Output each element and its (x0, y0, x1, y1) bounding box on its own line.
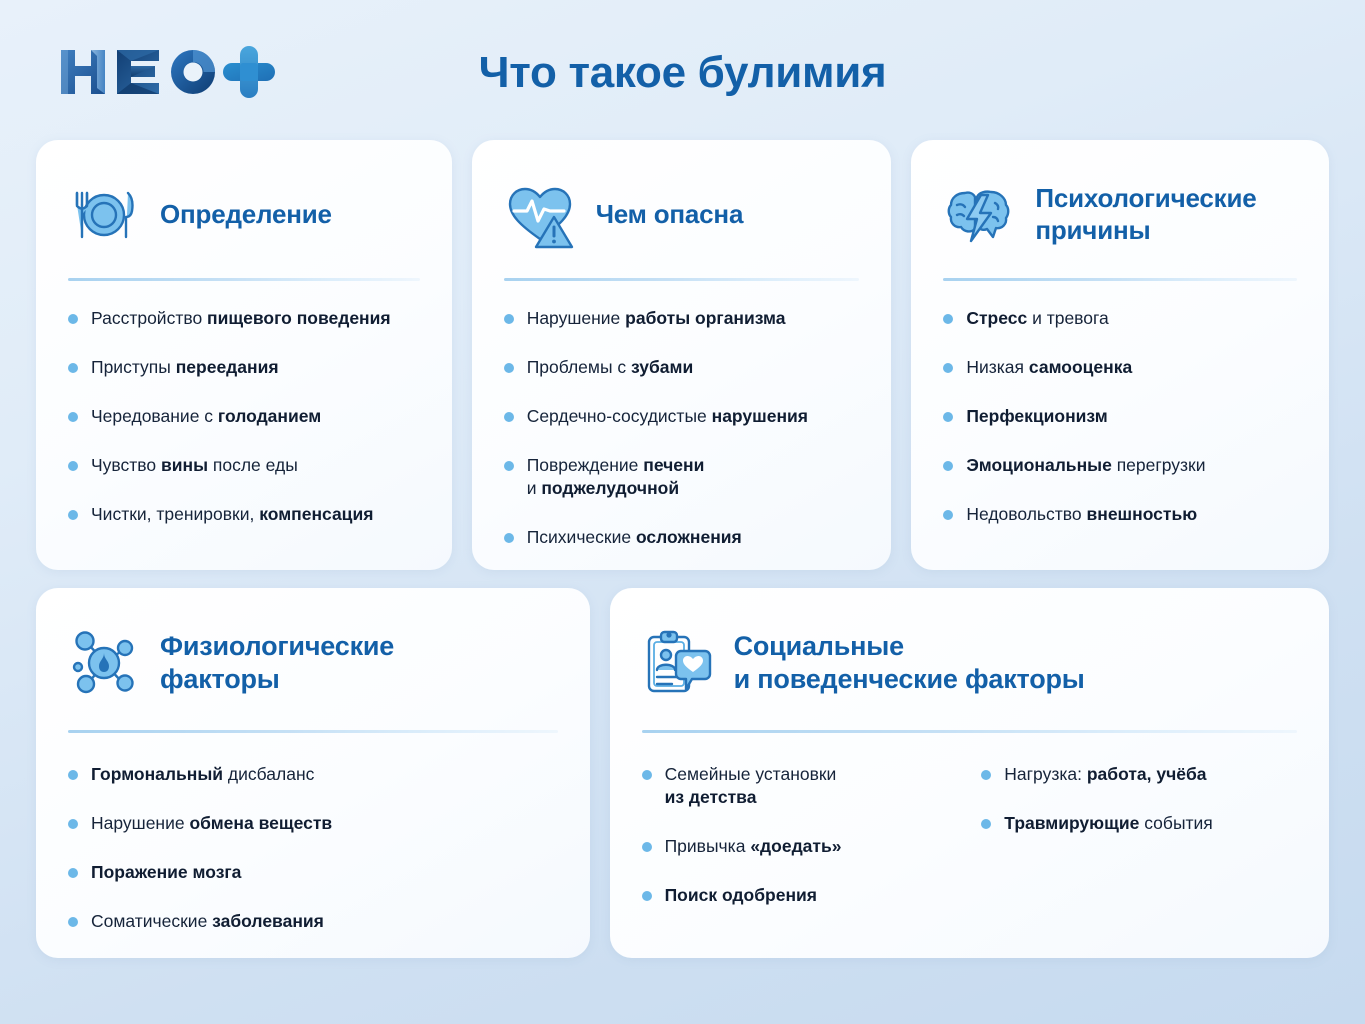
list-item: Нарушение обмена веществ (68, 812, 558, 835)
bullet-dot (943, 412, 953, 422)
list-item: Чувство вины после еды (68, 454, 420, 477)
bullet-list: Стресс и тревога Низкая самооценка Перфе… (943, 307, 1297, 526)
list-item: Травмирующие события (981, 812, 1297, 835)
card-title-line2: и поведенческие факторы (734, 664, 1085, 694)
bullet-dot (981, 819, 991, 829)
cards-row-top: Определение Расстройство пищевого поведе… (0, 140, 1365, 570)
bullet-dot (642, 842, 652, 852)
list-item: Гормональный дисбаланс (68, 763, 558, 786)
list-item: Низкая самооценка (943, 356, 1297, 379)
bullet-dot (504, 412, 514, 422)
card-title-line1: Физиологические (160, 631, 394, 661)
list-item: Семейные установкииз детства (642, 763, 958, 809)
card-title-line1: Социальные (734, 631, 904, 661)
bullet-dot (504, 461, 514, 471)
bullet-dot (981, 770, 991, 780)
card-header: Определение (68, 174, 420, 256)
list-item: Эмоциональные перегрузки (943, 454, 1297, 477)
clipboard-heart-icon (642, 627, 714, 699)
bullet-dot (943, 363, 953, 373)
list-item: Привычка «доедать» (642, 835, 958, 858)
bullet-dot (504, 363, 514, 373)
card-divider (504, 278, 860, 281)
plate-fork-knife-icon (68, 179, 140, 251)
bullet-dot (68, 770, 78, 780)
card-title: Определение (160, 199, 332, 231)
list-item: Приступы переедания (68, 356, 420, 379)
bullet-dot (68, 868, 78, 878)
cards-row-bottom: Физиологические факторы Гормональный дис… (0, 588, 1365, 958)
bullet-dot (68, 917, 78, 927)
bullet-dot (68, 819, 78, 829)
card-title-line2: причины (1035, 215, 1150, 245)
page-title: Что такое булимия (0, 48, 1365, 98)
cards-grid: Определение Расстройство пищевого поведе… (0, 140, 1365, 958)
list-item: Поражение мозга (68, 861, 558, 884)
molecule-hormone-icon (68, 627, 140, 699)
bullet-dot (504, 314, 514, 324)
card-title: Физиологические факторы (160, 630, 394, 696)
card-title: Психологические причины (1035, 183, 1256, 246)
bullet-dot (504, 533, 514, 543)
bullet-list: Гормональный дисбаланс Нарушение обмена … (68, 763, 558, 933)
list-item: Стресс и тревога (943, 307, 1297, 330)
list-item: Психические осложнения (504, 526, 860, 549)
bullet-list: Расстройство пищевого поведения Приступы… (68, 307, 420, 526)
card-header: Физиологические факторы (68, 622, 558, 704)
bullet-dot (943, 510, 953, 520)
list-item: Перфекционизм (943, 405, 1297, 428)
list-item: Нагрузка: работа, учёба (981, 763, 1297, 786)
card-divider (642, 730, 1297, 733)
card-divider (68, 278, 420, 281)
bullet-dot (642, 891, 652, 901)
bullet-dot (68, 412, 78, 422)
card-chem-opasna: Чем опасна Нарушение работы организма Пр… (472, 140, 892, 570)
list-item: Нарушение работы организма (504, 307, 860, 330)
card-title: Социальные и поведенческие факторы (734, 630, 1085, 696)
bullet-dot (68, 314, 78, 324)
bullet-dot (943, 461, 953, 471)
list-item: Повреждение печении поджелудочной (504, 454, 860, 500)
bullet-dot (68, 510, 78, 520)
bullet-column-right: Нагрузка: работа, учёба Травмирующие соб… (981, 763, 1297, 907)
heart-pulse-warning-icon (504, 179, 576, 251)
bullet-list: Нарушение работы организма Проблемы с зу… (504, 307, 860, 550)
bullet-columns: Семейные установкииз детства Привычка «д… (642, 763, 1297, 907)
bullet-list: Нагрузка: работа, учёба Травмирующие соб… (981, 763, 1297, 835)
card-header: Психологические причины (943, 174, 1297, 256)
list-item: Расстройство пищевого поведения (68, 307, 420, 330)
list-item: Чередование с голоданием (68, 405, 420, 428)
card-title-line2: факторы (160, 664, 280, 694)
card-divider (68, 730, 558, 733)
brain-lightning-icon (943, 179, 1015, 251)
page-header: Что такое булимия (0, 0, 1365, 140)
card-socialnye-faktory: Социальные и поведенческие факторы Семей… (610, 588, 1329, 958)
bullet-column-left: Семейные установкииз детства Привычка «д… (642, 763, 958, 907)
card-title: Чем опасна (596, 199, 744, 231)
card-title-line1: Психологические (1035, 183, 1256, 213)
card-fiziologicheskie-faktory: Физиологические факторы Гормональный дис… (36, 588, 590, 958)
list-item: Сердечно-сосудистые нарушения (504, 405, 860, 428)
list-item: Проблемы с зубами (504, 356, 860, 379)
card-header: Чем опасна (504, 174, 860, 256)
bullet-dot (943, 314, 953, 324)
list-item: Чистки, тренировки, компенсация (68, 503, 420, 526)
card-psihologicheskie-prichiny: Психологические причины Стресс и тревога… (911, 140, 1329, 570)
list-item: Поиск одобрения (642, 884, 958, 907)
card-opredelenie: Определение Расстройство пищевого поведе… (36, 140, 452, 570)
bullet-dot (68, 461, 78, 471)
bullet-list: Семейные установкииз детства Привычка «д… (642, 763, 958, 907)
list-item: Недовольство внешностью (943, 503, 1297, 526)
bullet-dot (68, 363, 78, 373)
bullet-dot (642, 770, 652, 780)
card-header: Социальные и поведенческие факторы (642, 622, 1297, 704)
list-item: Соматические заболевания (68, 910, 558, 933)
card-divider (943, 278, 1297, 281)
